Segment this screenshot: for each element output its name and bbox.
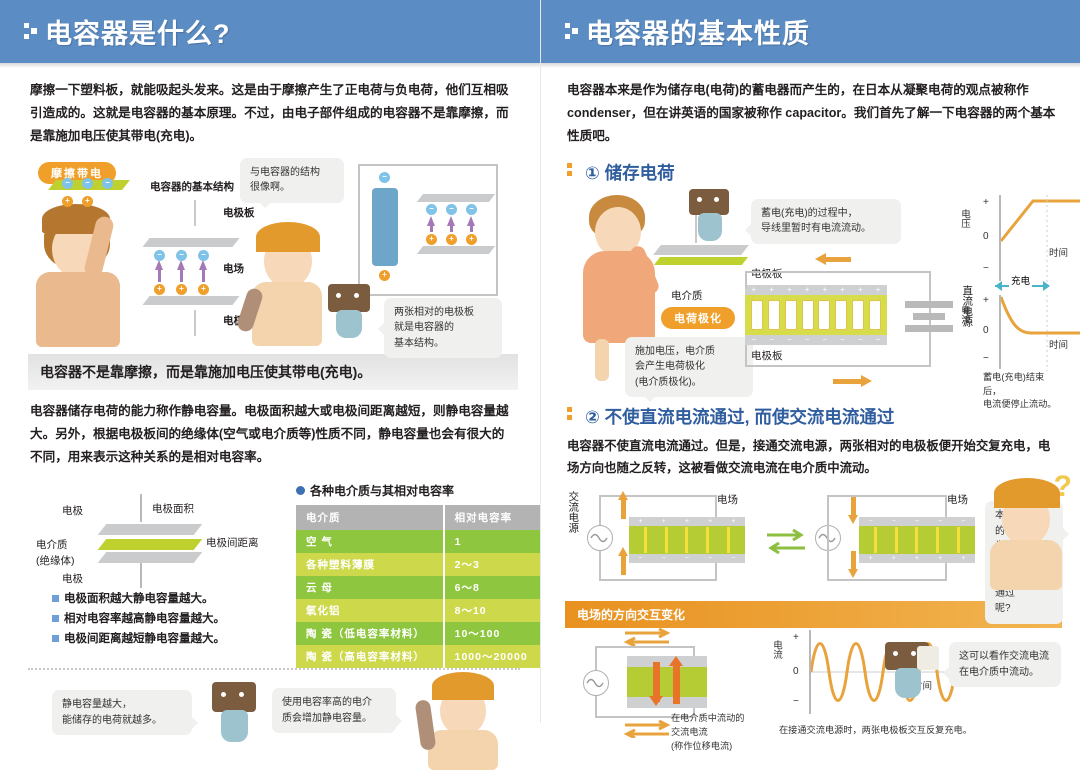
section1-illustration: 蓄电(充电)的过程中， 导线里暂时有电流流动。 电介质 电荷极化 施加电压，电介… [565,189,1062,394]
dielectric-slab-green [654,257,748,265]
right-header-title: 电容器的基本性质 [586,12,810,51]
table-row: 空 气 1 [296,530,542,553]
label-ac-source-1: 交流电源 [565,491,580,533]
plate-lower [98,552,203,563]
section1-title: ① 储存电荷 [585,160,675,185]
section-bullet-icon [567,161,579,183]
cell-permittivity: 8～10 [444,599,542,622]
left-column: 电容器是什么? 摩擦一下塑料板，就能吸起头发来。这是由于摩擦产生了正电荷与负电荷… [0,0,540,723]
left-header-title: 电容器是什么? [45,12,231,51]
bird-mascot-4 [881,642,939,704]
label-electrode-bottom: 电极 [62,572,83,587]
th-material: 电介质 [296,505,444,530]
bubble-boy-permittivity: 使用电容率高的电介 质会增加静电容量。 [272,688,396,733]
polarization-badge: 电荷极化 [661,307,735,329]
cell-material: 云 母 [296,576,444,599]
positive-charge: + [82,196,93,207]
chart-ylabel-voltage: 电压 [957,209,971,228]
left-lower-area: 电极 电介质 (绝缘体) 电极 电极面积 电极间距离 电极面积越大静电容量越大。… [28,482,520,662]
header-bullet-icon [24,19,38,45]
dielectric-table: 电介质 相对电容率 空 气 1 各种塑料薄膜 2～3 [296,505,542,668]
chart-xlabel-time: 时间 [1049,337,1068,351]
charging-label: 充电 [1009,273,1032,287]
dielectric-layer [98,539,203,550]
table-title: 各种电介质与其相对电容率 [296,482,542,499]
ytick-minus: − [983,263,989,274]
bullet-square-icon [52,595,59,602]
right-header: 电容器的基本性质 [541,0,1080,63]
cell-material: 空 气 [296,530,444,553]
table-row: 云 母 6～8 [296,576,542,599]
electrode-plate-top [142,238,239,247]
exchange-arrows-icon [765,529,807,560]
label-electric-field: 电场 [223,262,244,277]
electrode-plate-bottom [142,296,239,305]
chart-xlabel-time: 时间 [1049,245,1068,259]
table-row: 氧化铝 8～10 [296,599,542,622]
header-bullet-icon [565,19,579,45]
cell-permittivity: 1 [444,530,542,553]
cell-permittivity: 1000～20000 [444,645,542,668]
capacitor-block-ac-1: +++++ −−−−− [629,517,745,563]
question-mark-icon: ? [1054,470,1072,504]
cell-material: 各种塑料薄膜 [296,553,444,576]
label-plate-bottom-r: 电极板 [751,349,783,364]
bullet-item: 电极面积越大静电容量越大。 [52,590,225,610]
label-dielectric-r: 电介质 [671,289,703,304]
label-displacement-current: 在电介质中流动的 交流电流 (称作位移电流) [671,712,745,753]
ac-source-symbol-1 [587,525,613,551]
charging-annotation: 充电 [995,279,1055,295]
bullet-item: 相对电容率越高静电容量越大。 [52,610,225,630]
left-bottom-row: 静电容量越大， 能储存的电荷就越多。 使用电容率高的电介 质会增加静电容量。 [28,670,520,766]
boy-thinking-figure: ? [978,470,1074,590]
cell-material: 陶 瓷（高电容率材料） [296,645,444,668]
label-electrode-top: 电极 [62,504,83,519]
section-bullet-icon [567,405,579,427]
capacitor-cylinder [372,188,398,266]
ytick-plus: + [983,197,989,208]
ac-source-symbol-3 [583,670,609,696]
label-electrode-gap: 电极间距离 [206,536,259,551]
label-electrode-area: 电极面积 [152,502,194,517]
table-row: 陶 瓷（低电容率材料） 10～100 [296,622,542,645]
dc-battery-plate [905,301,953,308]
th-permittivity: 相对电容率 [444,505,542,530]
bubble-boy-structure: 与电容器的结构 很像啊。 [240,158,344,203]
dielectric-table-wrap: 各种电介质与其相对电容率 电介质 相对电容率 空 气 1 [296,482,542,668]
structure-title: 电容器的基本结构 [150,180,234,195]
bubble-bird-capacity: 静电容量越大， 能储存的电荷就越多。 [52,690,192,735]
label-field-2: 电场 [947,493,968,508]
cell-material: 氧化铝 [296,599,444,622]
ytick-minus: − [983,353,989,364]
dielectric-slab-top [653,245,749,255]
bird-mascot-3 [685,189,735,245]
bullet-dot-icon [296,486,305,495]
current-chart: 电流 + 0 − 时间 [983,295,1080,375]
bullet-item: 电极间距离越短静电容量越大。 [52,630,225,650]
ytick-zero: 0 [983,231,989,242]
double-arrow-top-icon [621,628,673,651]
voltage-curve [1001,195,1080,285]
boy-figure-2 [414,670,510,766]
negative-charge: − [82,178,93,189]
ytick-zero: 0 [983,325,989,336]
section2-title: ② 不使直流电流通过, 而使交流电流通过 [585,404,894,429]
capacitor-block: ++++++++ −−−−−−−− [745,285,887,345]
chart-ylabel-ac: 电流 [769,640,783,659]
table-header-row: 电介质 相对电容率 [296,505,542,530]
voltage-chart: 电压 + 0 − 时间 [983,195,1080,285]
left-highlight-strip: 电容器不是靠摩擦，而是靠施加电压使其带电(充电)。 [28,354,518,390]
capacitor-block-ac-2: −−−−− +++++ [859,517,975,563]
ytick-minus: − [793,696,799,707]
positive-charge: + [62,196,73,207]
bullet-square-icon [52,615,59,622]
infographic-page: 电容器是什么? 摩擦一下塑料板，就能吸起头发来。这是由于摩擦产生了正电荷与负电荷… [0,0,1080,723]
cell-permittivity: 10～100 [444,622,542,645]
ytick-plus: + [983,295,989,306]
section2-bottom-illustration: 在电介质中流动的 交流电流 (称作位移电流) 电流 + 0 − 时间 在接通交流… [565,628,1062,746]
capacitor-block-displacement [627,656,707,708]
label-dielectric: 电介质 (绝缘体) [36,538,75,568]
label-field-1: 电场 [717,493,738,508]
double-arrow-bottom-icon [621,720,673,743]
bubble-bird-structure: 两张相对的电极板 就是电容器的 基本结构。 [384,298,502,359]
current-decay-curve [1001,295,1080,373]
left-body2-text: 电容器储存电荷的能力称作静电容量。电极面积越大或电极间距离越短，则静电容量越大。… [0,390,540,477]
ytick-zero: 0 [793,666,799,677]
bird-mascot-2 [206,682,262,756]
negative-charge: − [62,178,73,189]
cell-permittivity: 2～3 [444,553,542,576]
label-plate-top-r: 电极板 [751,267,783,282]
charging-end-caption: 蓄电(充电)结束后， 电流便停止流动。 [983,371,1062,412]
dc-battery-plate [905,325,953,332]
left-intro-text: 摩擦一下塑料板，就能吸起头发来。这是由于摩擦产生了正电荷与负电荷，他们互相吸引造… [0,68,540,156]
bubble-bird-charging: 蓄电(充电)的过程中， 导线里暂时有电流流动。 [751,199,901,244]
bubble-woman-polarization: 施加电压，电介质 会产生电荷极化 (电介质极化)。 [625,337,753,398]
left-header: 电容器是什么? [0,0,540,63]
negative-charge: − [102,178,113,189]
cell-material: 陶 瓷（低电容率材料） [296,622,444,645]
table-row: 陶 瓷（高电容率材料） 1000～20000 [296,645,542,668]
bird-mascot [322,284,376,342]
right-intro-text: 电容器本来是作为储存电(电荷)的蓄电器而产生的，在日本从凝聚电荷的观点被称作 c… [541,68,1080,156]
friction-illustration: 摩擦带电 − − − + + 电容器的基本结构 电极板 − − − [28,158,518,348]
dc-battery-plate [913,313,945,320]
cell-permittivity: 6～8 [444,576,542,599]
boy-figure [242,216,332,346]
table-row: 各种塑料薄膜 2～3 [296,553,542,576]
bubble-bird-ac-flow: 这可以看作交流电流 在电介质中流动。 [949,642,1061,687]
capacitance-bullets: 电极面积越大静电容量越大。 相对电容率越高静电容量越大。 电极间距离越短静电容量… [52,590,225,649]
right-column: 电容器的基本性质 电容器本来是作为储存电(电荷)的蓄电器而产生的，在日本从凝聚电… [540,0,1080,723]
section1-header: ① 储存电荷 [541,156,1080,189]
chart-ylabel-current: 电流 [957,305,971,324]
plate-upper [98,524,203,535]
ytick-plus: + [793,632,799,643]
ac-charging-caption: 在接通交流电源时，两张电极板交互反复充电。 [779,724,972,738]
bullet-square-icon [52,635,59,642]
